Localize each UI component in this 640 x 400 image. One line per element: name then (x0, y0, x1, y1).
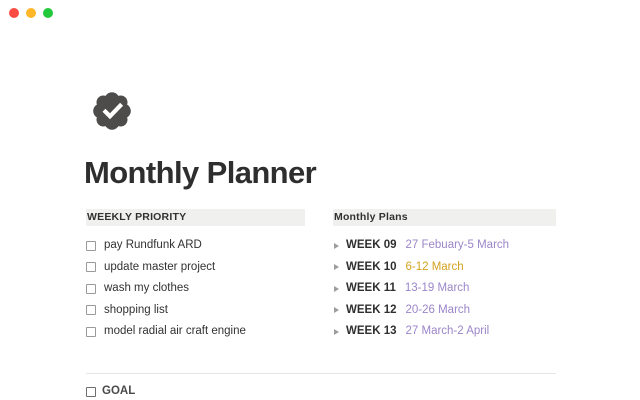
monthly-plans-header: Monthly Plans (333, 209, 556, 226)
checkbox-icon[interactable] (86, 241, 96, 251)
goal-row[interactable]: GOAL (86, 383, 135, 400)
list-item[interactable]: update master project (86, 257, 305, 279)
checkbox-icon[interactable] (86, 262, 96, 272)
square-outline-icon (86, 387, 96, 397)
app-window: Monthly Planner WEEKLY PRIORITY pay Rund… (0, 0, 640, 400)
list-item[interactable]: WEEK 13 27 March-2 April (333, 321, 556, 343)
list-item[interactable]: WEEK 09 27 Febuary-5 March (333, 235, 556, 257)
list-item-label: shopping list (104, 305, 168, 317)
week-range: 27 March-2 April (406, 326, 490, 338)
chevron-right-icon[interactable] (334, 264, 339, 270)
checkbox-icon[interactable] (86, 327, 96, 337)
list-item-label: wash my clothes (104, 283, 189, 295)
minimize-button[interactable] (26, 8, 36, 18)
zoom-button[interactable] (43, 8, 53, 18)
page-title: Monthly Planner (84, 157, 316, 188)
list-item[interactable]: model radial air craft engine (86, 321, 305, 343)
week-label: WEEK 10 (346, 262, 397, 274)
list-item[interactable]: WEEK 12 20-26 March (333, 300, 556, 322)
chevron-right-icon[interactable] (334, 307, 339, 313)
checkbox-icon[interactable] (86, 305, 96, 315)
traffic-light-group (9, 8, 53, 18)
chevron-right-icon[interactable] (334, 286, 339, 292)
week-label: WEEK 09 (346, 240, 397, 252)
week-range: 20-26 March (406, 305, 471, 317)
list-item[interactable]: shopping list (86, 300, 305, 322)
week-range: 13-19 March (405, 283, 470, 295)
section-divider (86, 373, 556, 374)
document-canvas: Monthly Planner WEEKLY PRIORITY pay Rund… (0, 26, 640, 400)
weekly-priority-header: WEEKLY PRIORITY (86, 209, 305, 226)
week-range: 27 Febuary-5 March (406, 240, 510, 252)
list-item-label: model radial air craft engine (104, 326, 246, 338)
monthly-plans-column: Monthly Plans WEEK 09 27 Febuary-5 March… (333, 209, 556, 343)
weekly-priority-column: WEEKLY PRIORITY pay Rundfunk ARD update … (86, 209, 305, 343)
chevron-right-icon[interactable] (334, 329, 339, 335)
monthly-plans-heading-text: Monthly Plans (334, 212, 408, 223)
list-item[interactable]: wash my clothes (86, 278, 305, 300)
checkbox-icon[interactable] (86, 284, 96, 294)
weekly-priority-heading-text: WEEKLY PRIORITY (87, 212, 186, 223)
close-button[interactable] (9, 8, 19, 18)
list-item[interactable]: WEEK 11 13-19 March (333, 278, 556, 300)
week-range: 6-12 March (406, 262, 464, 274)
list-item[interactable]: pay Rundfunk ARD (86, 235, 305, 257)
week-label: WEEK 11 (346, 283, 396, 295)
week-label: WEEK 13 (346, 326, 397, 338)
chevron-right-icon[interactable] (334, 243, 339, 249)
week-label: WEEK 12 (346, 305, 397, 317)
goal-label: GOAL (102, 386, 135, 398)
list-item-label: pay Rundfunk ARD (104, 240, 202, 252)
list-item-label: update master project (104, 262, 215, 274)
list-item[interactable]: WEEK 10 6-12 March (333, 257, 556, 279)
title-bar (0, 0, 640, 26)
verified-check-badge-icon[interactable] (86, 85, 138, 137)
